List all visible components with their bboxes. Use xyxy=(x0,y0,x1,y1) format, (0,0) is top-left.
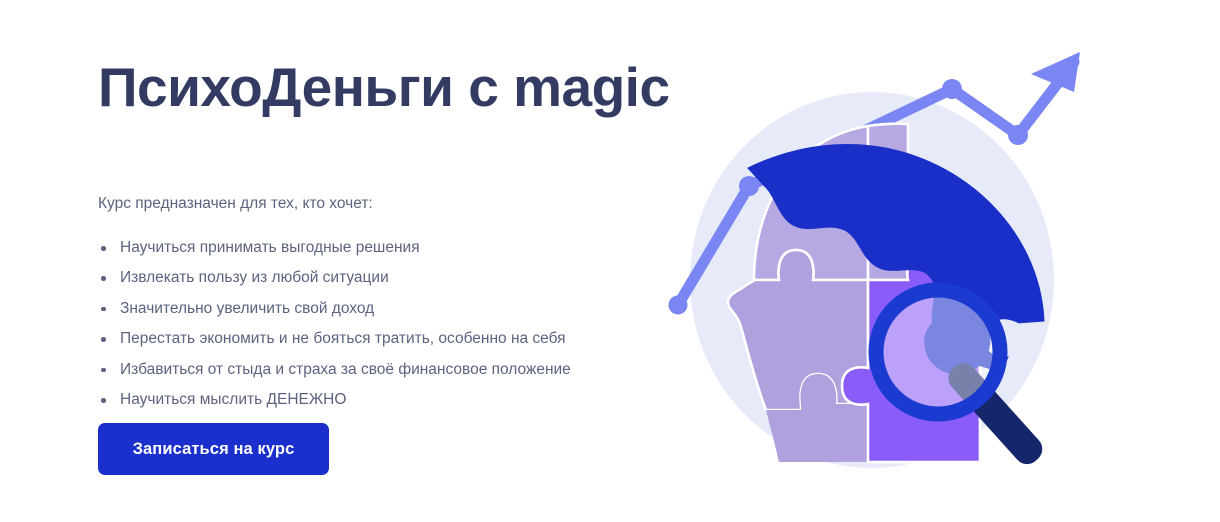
list-item: Научиться мыслить ДЕНЕЖНО xyxy=(98,390,658,411)
hero-copy-column: ПсихоДеньги с magic Курс предназначен дл… xyxy=(98,0,658,522)
list-item-label: Перестать экономить и не бояться тратить… xyxy=(120,330,566,347)
list-item-label: Значительно увеличить свой доход xyxy=(120,300,374,317)
hero-lead-text: Курс предназначен для тех, кто хочет: xyxy=(98,192,373,215)
list-item-label: Научиться мыслить ДЕНЕЖНО xyxy=(120,391,346,408)
bullet-icon xyxy=(101,368,106,373)
list-item: Научиться принимать выгодные решения xyxy=(98,238,658,259)
list-item-label: Извлекать пользу из любой ситуации xyxy=(120,269,389,286)
benefits-list: Научиться принимать выгодные решения Изв… xyxy=(98,238,658,421)
hero-illustration xyxy=(650,22,1100,502)
list-item: Перестать экономить и не бояться тратить… xyxy=(98,329,658,350)
list-item-label: Избавиться от стыда и страха за своё фин… xyxy=(120,361,571,378)
hero-section: ПсихоДеньги с magic Курс предназначен дл… xyxy=(0,0,1220,522)
page-title: ПсихоДеньги с magic xyxy=(98,58,670,117)
bullet-icon xyxy=(101,307,106,312)
bullet-icon xyxy=(101,246,106,251)
enroll-button[interactable]: Записаться на курс xyxy=(98,423,329,475)
bullet-icon xyxy=(101,337,106,342)
list-item: Извлекать пользу из любой ситуации xyxy=(98,268,658,289)
bullet-icon xyxy=(101,398,106,403)
list-item-label: Научиться принимать выгодные решения xyxy=(120,239,420,256)
list-item: Значительно увеличить свой доход xyxy=(98,299,658,320)
list-item: Избавиться от стыда и страха за своё фин… xyxy=(98,360,658,381)
bullet-icon xyxy=(101,276,106,281)
